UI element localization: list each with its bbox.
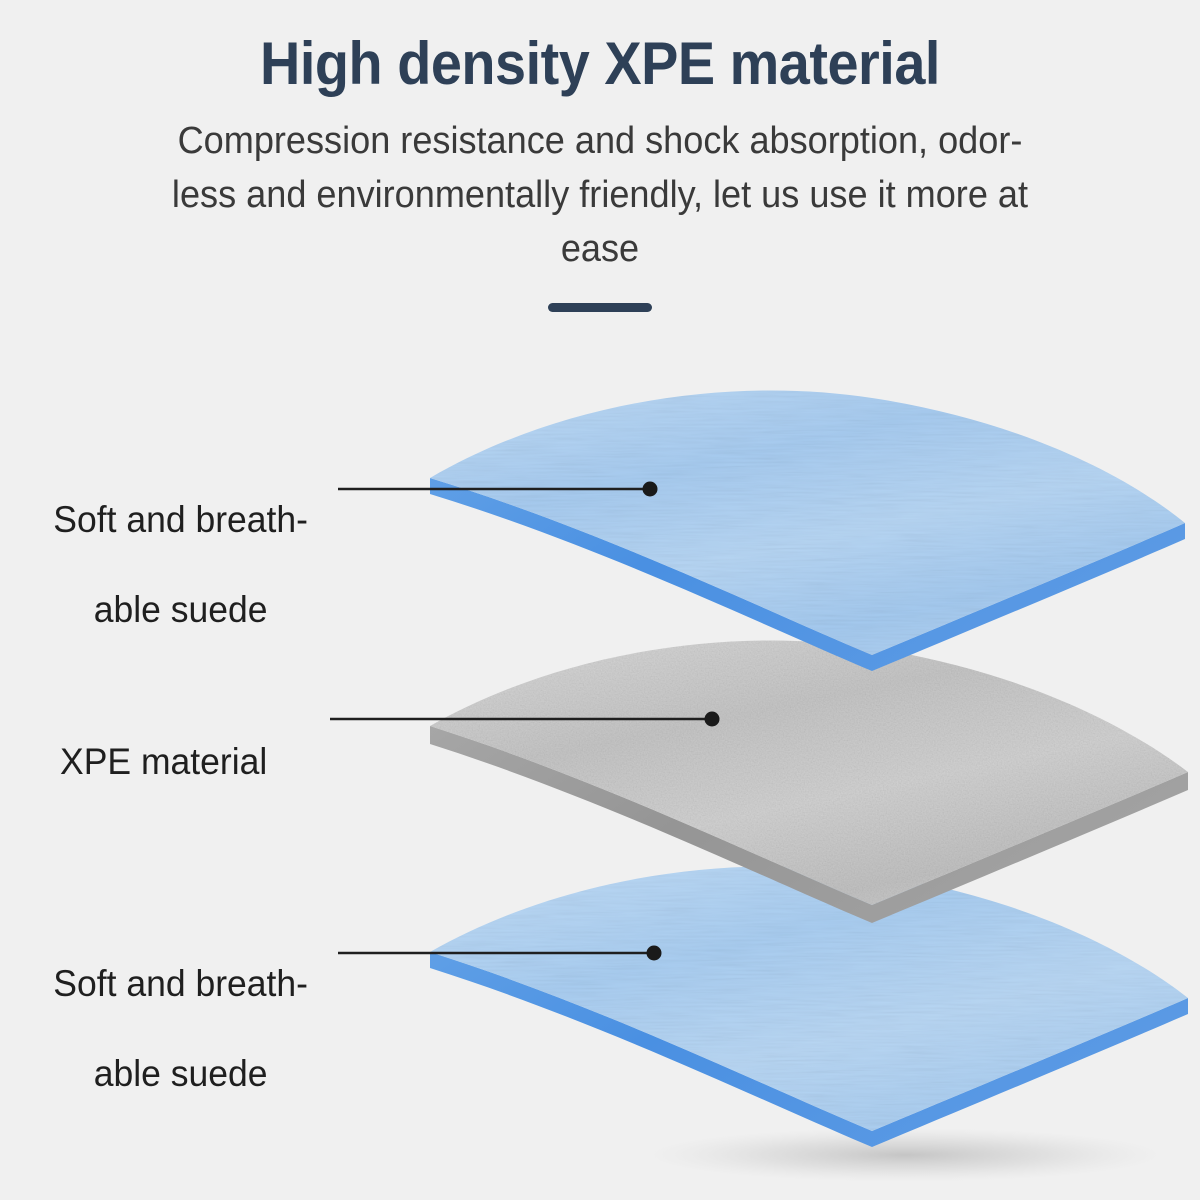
callout-xpe-line-1: XPE material	[60, 739, 300, 784]
callout-xpe-material: XPE material	[60, 694, 300, 829]
infographic-page: High density XPE material Compression re…	[0, 0, 1200, 1200]
callout-suede-bottom-line-2: able suede	[28, 1051, 333, 1096]
leader-dot-xpe	[705, 712, 720, 727]
callout-suede-top-line-1: Soft and breath-	[28, 497, 333, 542]
layer-xpe-core	[430, 640, 1188, 923]
leader-dot-suede-top	[643, 482, 658, 497]
layer-suede-bottom	[430, 866, 1188, 1147]
ground-shadow	[647, 1128, 1163, 1182]
layer-suede-top	[430, 390, 1185, 671]
leader-dot-suede-bottom	[647, 946, 662, 961]
callout-suede-top: Soft and breath- able suede	[28, 452, 333, 678]
callout-suede-top-line-2: able suede	[28, 587, 333, 632]
callout-suede-bottom: Soft and breath- able suede	[28, 916, 333, 1142]
callout-suede-bottom-line-1: Soft and breath-	[28, 961, 333, 1006]
